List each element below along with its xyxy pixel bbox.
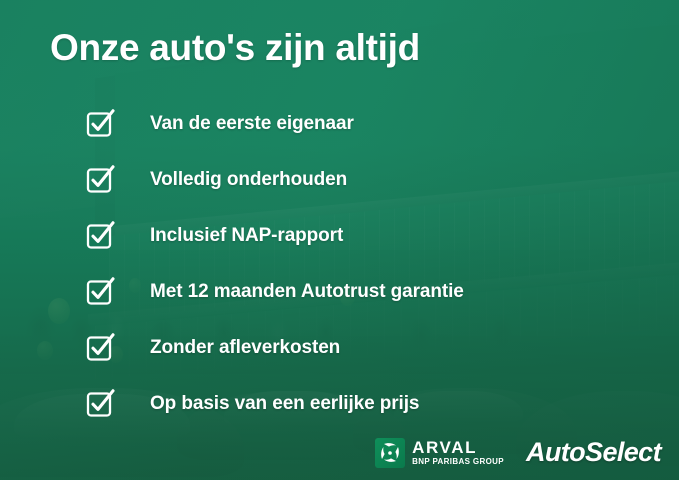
banner-content: Onze auto's zijn altijd Van de eerste ei… xyxy=(0,0,679,480)
checkbox-checked-icon xyxy=(86,166,114,194)
list-item: Zonder afleverkosten xyxy=(86,320,464,376)
list-item: Op basis van een eerlijke prijs xyxy=(86,376,464,432)
promo-banner: Onze auto's zijn altijd Van de eerste ei… xyxy=(0,0,679,480)
arval-name: ARVAL xyxy=(412,439,504,456)
arval-tagline: BNP PARIBAS GROUP xyxy=(412,458,504,466)
list-item: Volledig onderhouden xyxy=(86,152,464,208)
checkbox-checked-icon xyxy=(86,334,114,362)
list-item-label: Inclusief NAP-rapport xyxy=(150,225,343,247)
checkbox-checked-icon xyxy=(86,110,114,138)
logo-row: ARVAL BNP PARIBAS GROUP AutoSelect xyxy=(375,437,661,468)
list-item: Van de eerste eigenaar xyxy=(86,96,464,152)
benefits-list: Van de eerste eigenaar Volledig onderhou… xyxy=(86,96,464,432)
list-item-label: Met 12 maanden Autotrust garantie xyxy=(150,281,464,303)
checkbox-checked-icon xyxy=(86,390,114,418)
bnp-paribas-stars-icon xyxy=(375,438,405,468)
arval-logo: ARVAL BNP PARIBAS GROUP xyxy=(375,438,504,468)
list-item-label: Volledig onderhouden xyxy=(150,169,347,191)
list-item-label: Op basis van een eerlijke prijs xyxy=(150,393,419,415)
list-item-label: Zonder afleverkosten xyxy=(150,337,340,359)
arval-wordmark: ARVAL BNP PARIBAS GROUP xyxy=(412,439,504,466)
checkbox-checked-icon xyxy=(86,278,114,306)
page-title: Onze auto's zijn altijd xyxy=(50,26,420,70)
list-item-label: Van de eerste eigenaar xyxy=(150,113,354,135)
autoselect-logo: AutoSelect xyxy=(526,437,661,468)
list-item: Inclusief NAP-rapport xyxy=(86,208,464,264)
checkbox-checked-icon xyxy=(86,222,114,250)
list-item: Met 12 maanden Autotrust garantie xyxy=(86,264,464,320)
